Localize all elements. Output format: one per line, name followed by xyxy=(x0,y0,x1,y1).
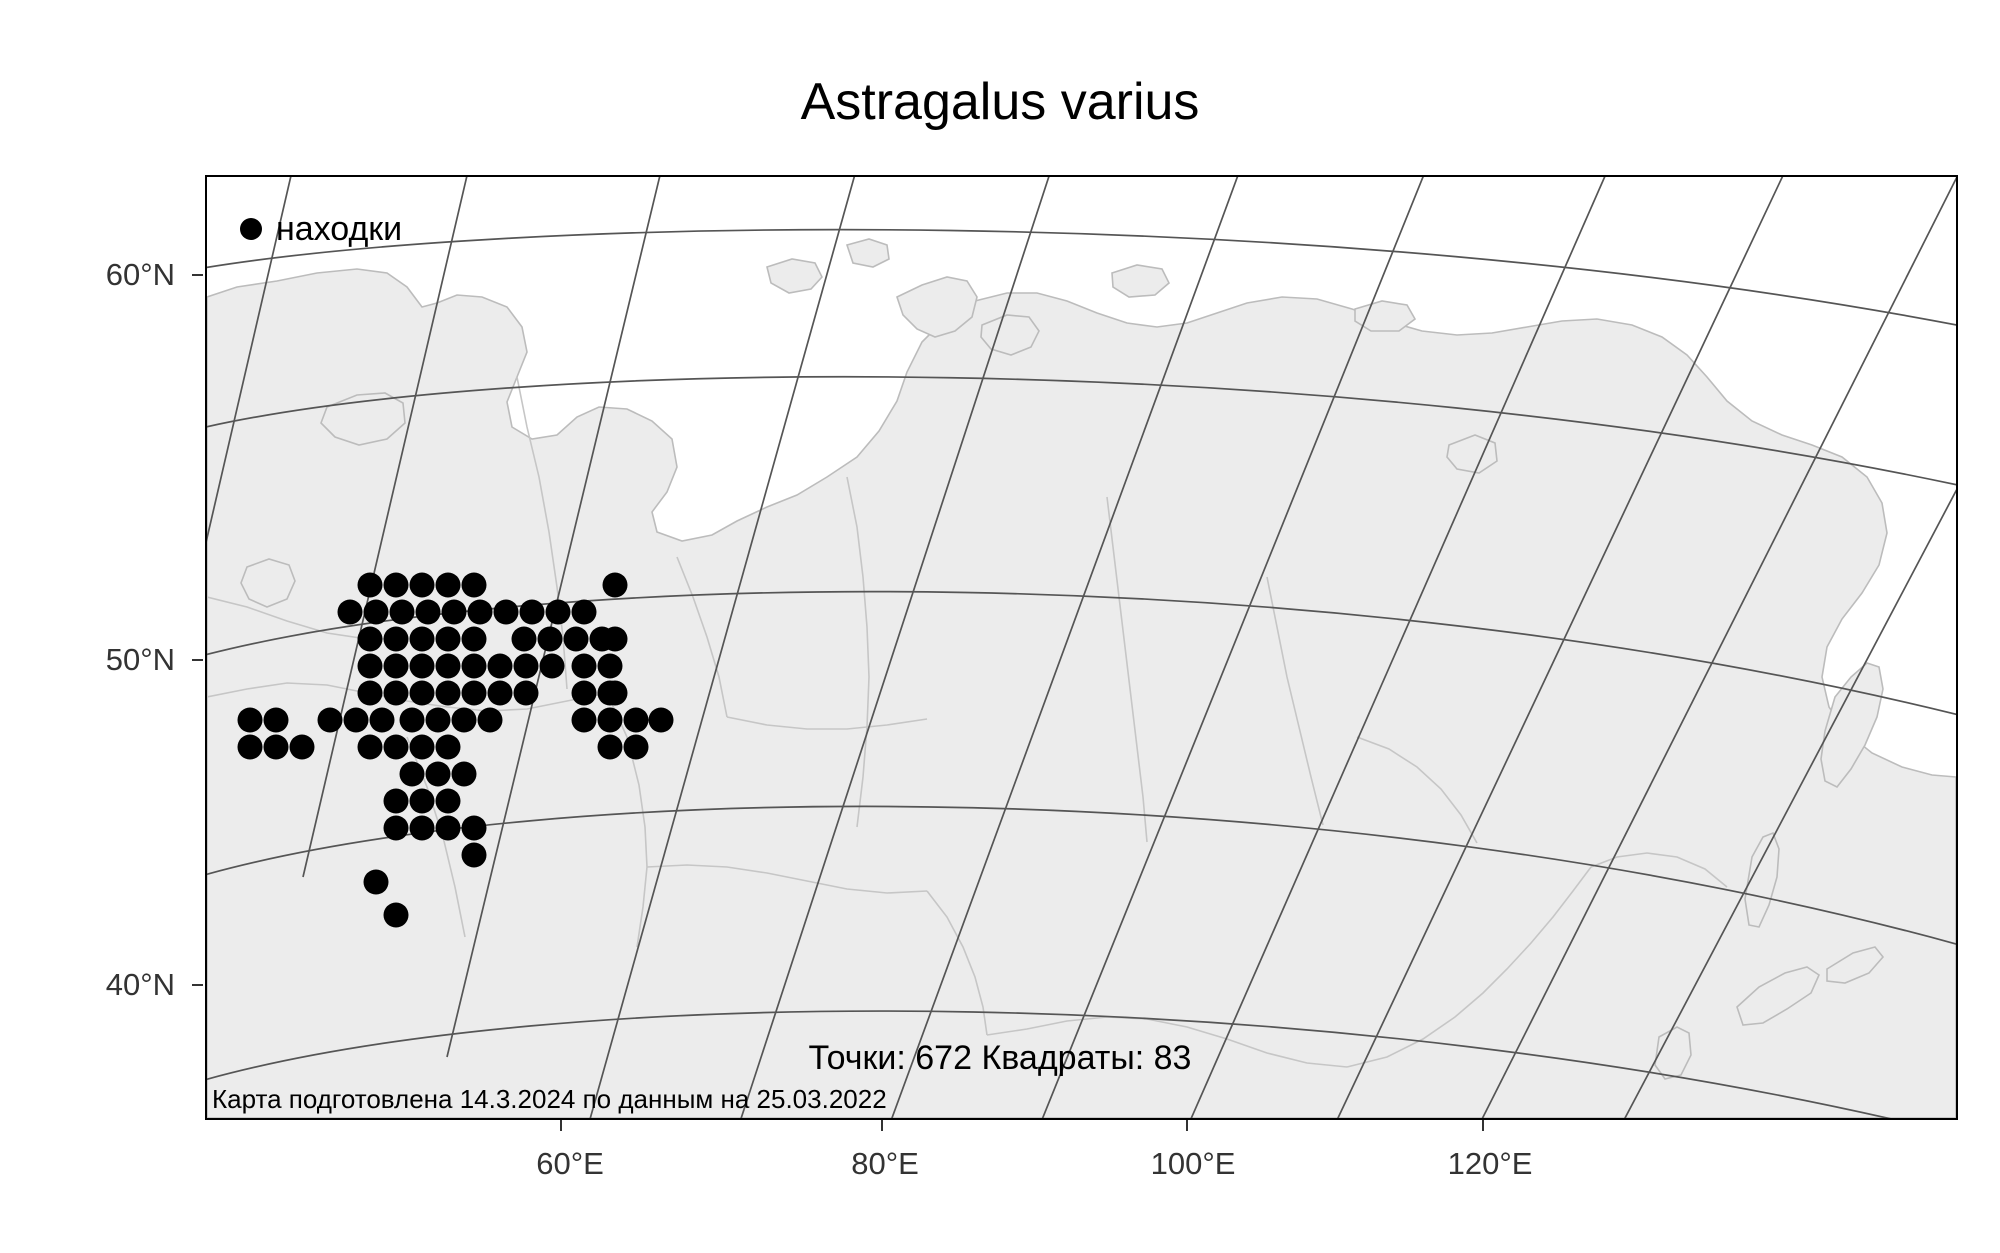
occurrence-dot[interactable] xyxy=(344,708,369,733)
occurrence-dot[interactable] xyxy=(384,627,409,652)
occurrence-dot[interactable] xyxy=(384,735,409,760)
page-title: Astragalus varius xyxy=(0,74,2000,130)
occurrence-dot[interactable] xyxy=(649,708,674,733)
lat-label-50n: 50°N xyxy=(75,644,175,675)
lon-label-120e: 120°E xyxy=(1390,1148,1590,1179)
lake-small-west xyxy=(241,559,295,607)
landmass-layer xyxy=(207,239,1956,1118)
occurrence-dot[interactable] xyxy=(410,654,435,679)
occurrence-dot[interactable] xyxy=(436,627,461,652)
occurrence-dot[interactable] xyxy=(442,600,467,625)
island-severnaya-zemlya xyxy=(1112,265,1169,297)
occurrence-dot[interactable] xyxy=(410,816,435,841)
occurrence-dot[interactable] xyxy=(384,681,409,706)
lon-tick-80e xyxy=(881,1120,883,1131)
occurrence-dot[interactable] xyxy=(364,870,389,895)
occurrence-dot[interactable] xyxy=(462,816,487,841)
occurrence-dot[interactable] xyxy=(358,654,383,679)
lat-tick-50n xyxy=(192,659,203,661)
occurrence-dot[interactable] xyxy=(572,654,597,679)
occurrence-dot[interactable] xyxy=(338,600,363,625)
occurrence-dot[interactable] xyxy=(358,627,383,652)
occurrence-dot[interactable] xyxy=(572,600,597,625)
island-small-north-1 xyxy=(847,239,889,267)
occurrence-dot[interactable] xyxy=(514,654,539,679)
map-graphics xyxy=(207,177,1956,1118)
occurrence-dot[interactable] xyxy=(624,735,649,760)
lat-tick-60n xyxy=(192,274,203,276)
occurrence-dot[interactable] xyxy=(452,708,477,733)
lon-label-80e: 80°E xyxy=(785,1148,985,1179)
occurrence-dot[interactable] xyxy=(426,708,451,733)
occurrence-dot[interactable] xyxy=(462,681,487,706)
occurrence-dot[interactable] xyxy=(452,762,477,787)
occurrence-dot[interactable] xyxy=(478,708,503,733)
occurrence-dot[interactable] xyxy=(520,600,545,625)
occurrence-dot[interactable] xyxy=(436,789,461,814)
occurrence-dot[interactable] xyxy=(384,573,409,598)
occurrence-dot[interactable] xyxy=(564,627,589,652)
map-page: Astragalus varius xyxy=(0,0,2000,1253)
occurrence-dot[interactable] xyxy=(318,708,343,733)
lat-label-60n: 60°N xyxy=(75,259,175,290)
occurrence-dot[interactable] xyxy=(264,735,289,760)
occurrence-dot[interactable] xyxy=(358,735,383,760)
occurrence-dot[interactable] xyxy=(436,681,461,706)
occurrence-dot[interactable] xyxy=(512,627,537,652)
occurrence-dot[interactable] xyxy=(572,681,597,706)
occurrence-dot[interactable] xyxy=(238,708,263,733)
filled-circle-icon xyxy=(240,218,262,240)
occurrence-dot[interactable] xyxy=(603,573,628,598)
lon-label-100e: 100°E xyxy=(1093,1148,1293,1179)
occurrence-dot[interactable] xyxy=(390,600,415,625)
occurrence-dot[interactable] xyxy=(264,708,289,733)
occurrence-dot[interactable] xyxy=(572,708,597,733)
occurrence-dot[interactable] xyxy=(436,654,461,679)
map-canvas[interactable] xyxy=(205,175,1958,1120)
occurrence-dot[interactable] xyxy=(436,573,461,598)
occurrence-dot[interactable] xyxy=(468,600,493,625)
occurrence-dot[interactable] xyxy=(598,735,623,760)
legend-label: находки xyxy=(276,212,402,246)
legend: находки xyxy=(240,212,402,246)
island-novosibirsk xyxy=(1355,301,1415,331)
occurrence-dot[interactable] xyxy=(488,654,513,679)
occurrence-dot[interactable] xyxy=(462,843,487,868)
lat-label-40n: 40°N xyxy=(75,969,175,1000)
occurrence-dot[interactable] xyxy=(436,735,461,760)
occurrence-dot[interactable] xyxy=(598,708,623,733)
occurrence-dot[interactable] xyxy=(538,627,563,652)
occurrence-dot[interactable] xyxy=(238,735,263,760)
occurrence-dot[interactable] xyxy=(400,708,425,733)
island-franz-josef xyxy=(767,259,822,293)
lon-tick-60e xyxy=(560,1120,562,1131)
occurrence-dot[interactable] xyxy=(546,600,571,625)
occurrence-dot[interactable] xyxy=(462,573,487,598)
occurrence-dot[interactable] xyxy=(384,654,409,679)
occurrence-dot[interactable] xyxy=(494,600,519,625)
lat-tick-40n xyxy=(192,984,203,986)
occurrence-dot[interactable] xyxy=(603,681,628,706)
occurrence-dot[interactable] xyxy=(603,627,628,652)
occurrence-dot[interactable] xyxy=(410,681,435,706)
lon-label-60e: 60°E xyxy=(470,1148,670,1179)
lon-tick-100e xyxy=(1186,1120,1188,1131)
occurrence-dot[interactable] xyxy=(624,708,649,733)
occurrence-dot[interactable] xyxy=(540,654,565,679)
occurrence-dot[interactable] xyxy=(410,735,435,760)
occurrence-dot[interactable] xyxy=(416,600,441,625)
occurrence-dot[interactable] xyxy=(384,903,409,928)
occurrence-dot[interactable] xyxy=(384,789,409,814)
occurrence-dot[interactable] xyxy=(436,816,461,841)
occurrence-dot[interactable] xyxy=(462,654,487,679)
occurrence-dot[interactable] xyxy=(598,654,623,679)
occurrence-dot[interactable] xyxy=(370,708,395,733)
occurrence-dot[interactable] xyxy=(426,762,451,787)
occurrence-dot[interactable] xyxy=(488,681,513,706)
occurrence-dot[interactable] xyxy=(410,627,435,652)
counts-annotation: Точки: 672 Квадраты: 83 xyxy=(0,1040,2000,1076)
occurrence-dot[interactable] xyxy=(410,789,435,814)
occurrence-dot[interactable] xyxy=(364,600,389,625)
occurrence-dot[interactable] xyxy=(410,573,435,598)
occurrence-dot[interactable] xyxy=(384,816,409,841)
footer-annotation: Карта подготовлена 14.3.2024 по данным н… xyxy=(212,1085,887,1113)
occurrence-dot[interactable] xyxy=(358,681,383,706)
occurrence-dot[interactable] xyxy=(358,573,383,598)
occurrence-dot[interactable] xyxy=(514,681,539,706)
occurrence-dot[interactable] xyxy=(290,735,315,760)
occurrence-dot[interactable] xyxy=(462,627,487,652)
lon-tick-120e xyxy=(1482,1120,1484,1131)
occurrence-dot[interactable] xyxy=(400,762,425,787)
